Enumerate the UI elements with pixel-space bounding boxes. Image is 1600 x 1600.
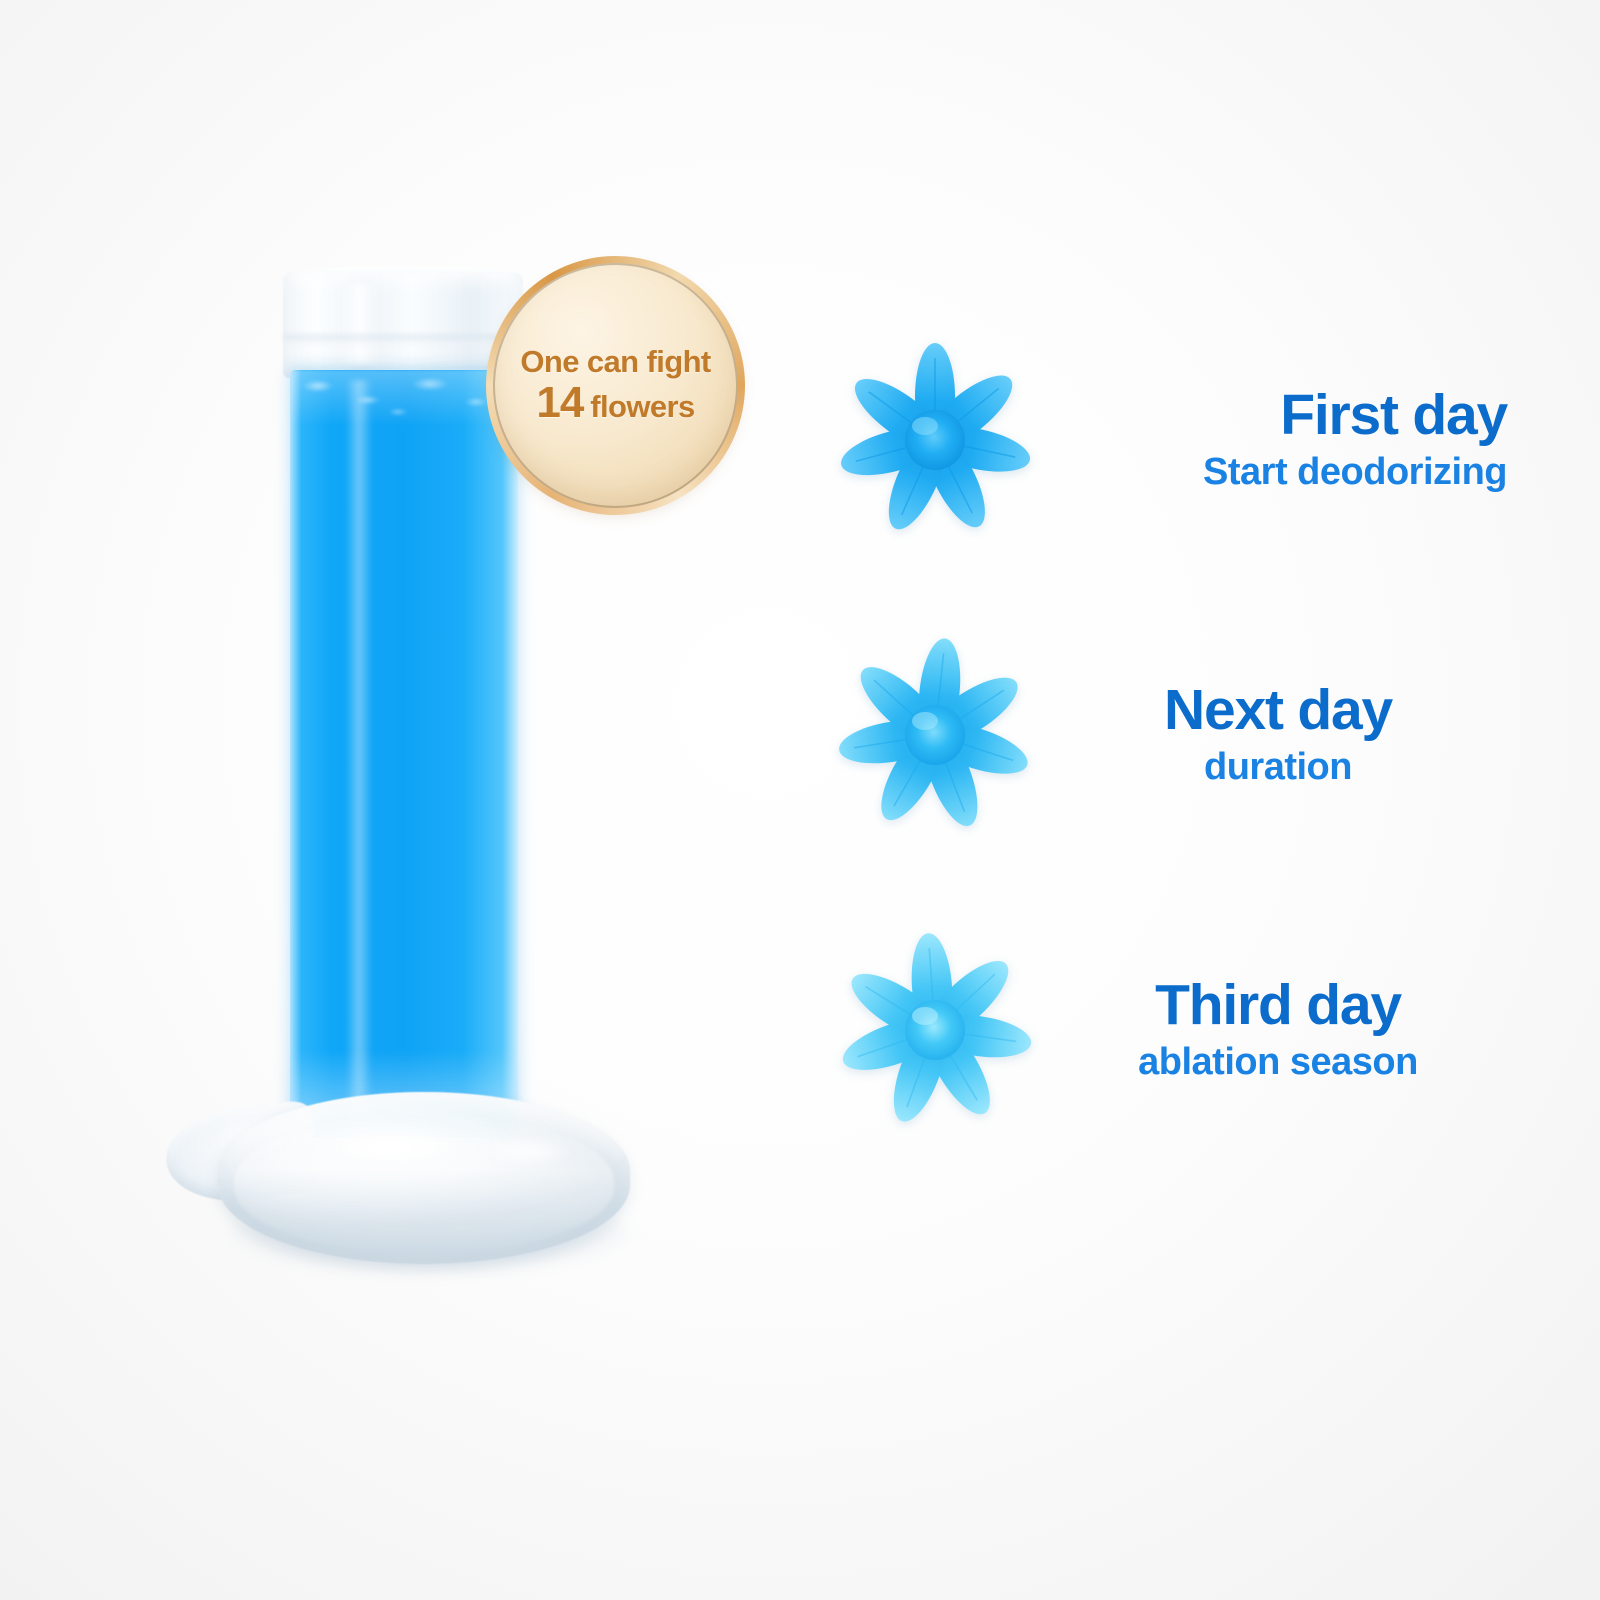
step-title: Next day — [1164, 681, 1392, 739]
base-gloss-right — [480, 1136, 576, 1166]
step-title: Third day — [1155, 976, 1401, 1034]
blue-gel-column — [290, 370, 518, 1138]
gel-surface-texture — [290, 370, 518, 426]
blue-gel-flower-icon — [835, 340, 1035, 540]
blue-gel-flower-icon — [835, 635, 1035, 835]
step-row-third-day: Third day ablation season — [835, 920, 1515, 1140]
step-subtitle: Start deodorizing — [1203, 452, 1507, 494]
badge-line-one: One can fight — [520, 346, 710, 377]
cap-gloss-highlight — [338, 284, 382, 364]
badge-count-unit: flowers — [590, 391, 694, 422]
step-text-first-day: First day Start deodorizing — [1035, 386, 1515, 494]
badge-text-group: One can fight 14 flowers — [493, 263, 738, 508]
step-title: First day — [1280, 386, 1507, 444]
step-text-third-day: Third day ablation season — [1035, 976, 1515, 1084]
promo-badge: One can fight 14 flowers — [493, 263, 738, 508]
tube-specular-highlight — [346, 380, 372, 1125]
base-gloss-left — [320, 1130, 470, 1166]
badge-count: 14 — [536, 381, 583, 425]
timeline-steps: First day Start deodorizing — [835, 330, 1515, 1200]
badge-line-two: 14 flowers — [536, 381, 694, 425]
step-subtitle: duration — [1204, 747, 1352, 789]
infographic-canvas: One can fight 14 flowers — [0, 0, 1600, 1600]
step-subtitle: ablation season — [1138, 1042, 1418, 1084]
blue-gel-flower-icon — [835, 930, 1035, 1130]
cap-band — [283, 334, 523, 346]
step-text-next-day: Next day duration — [1035, 681, 1515, 789]
step-row-next-day: Next day duration — [835, 625, 1515, 845]
step-row-first-day: First day Start deodorizing — [835, 330, 1515, 550]
